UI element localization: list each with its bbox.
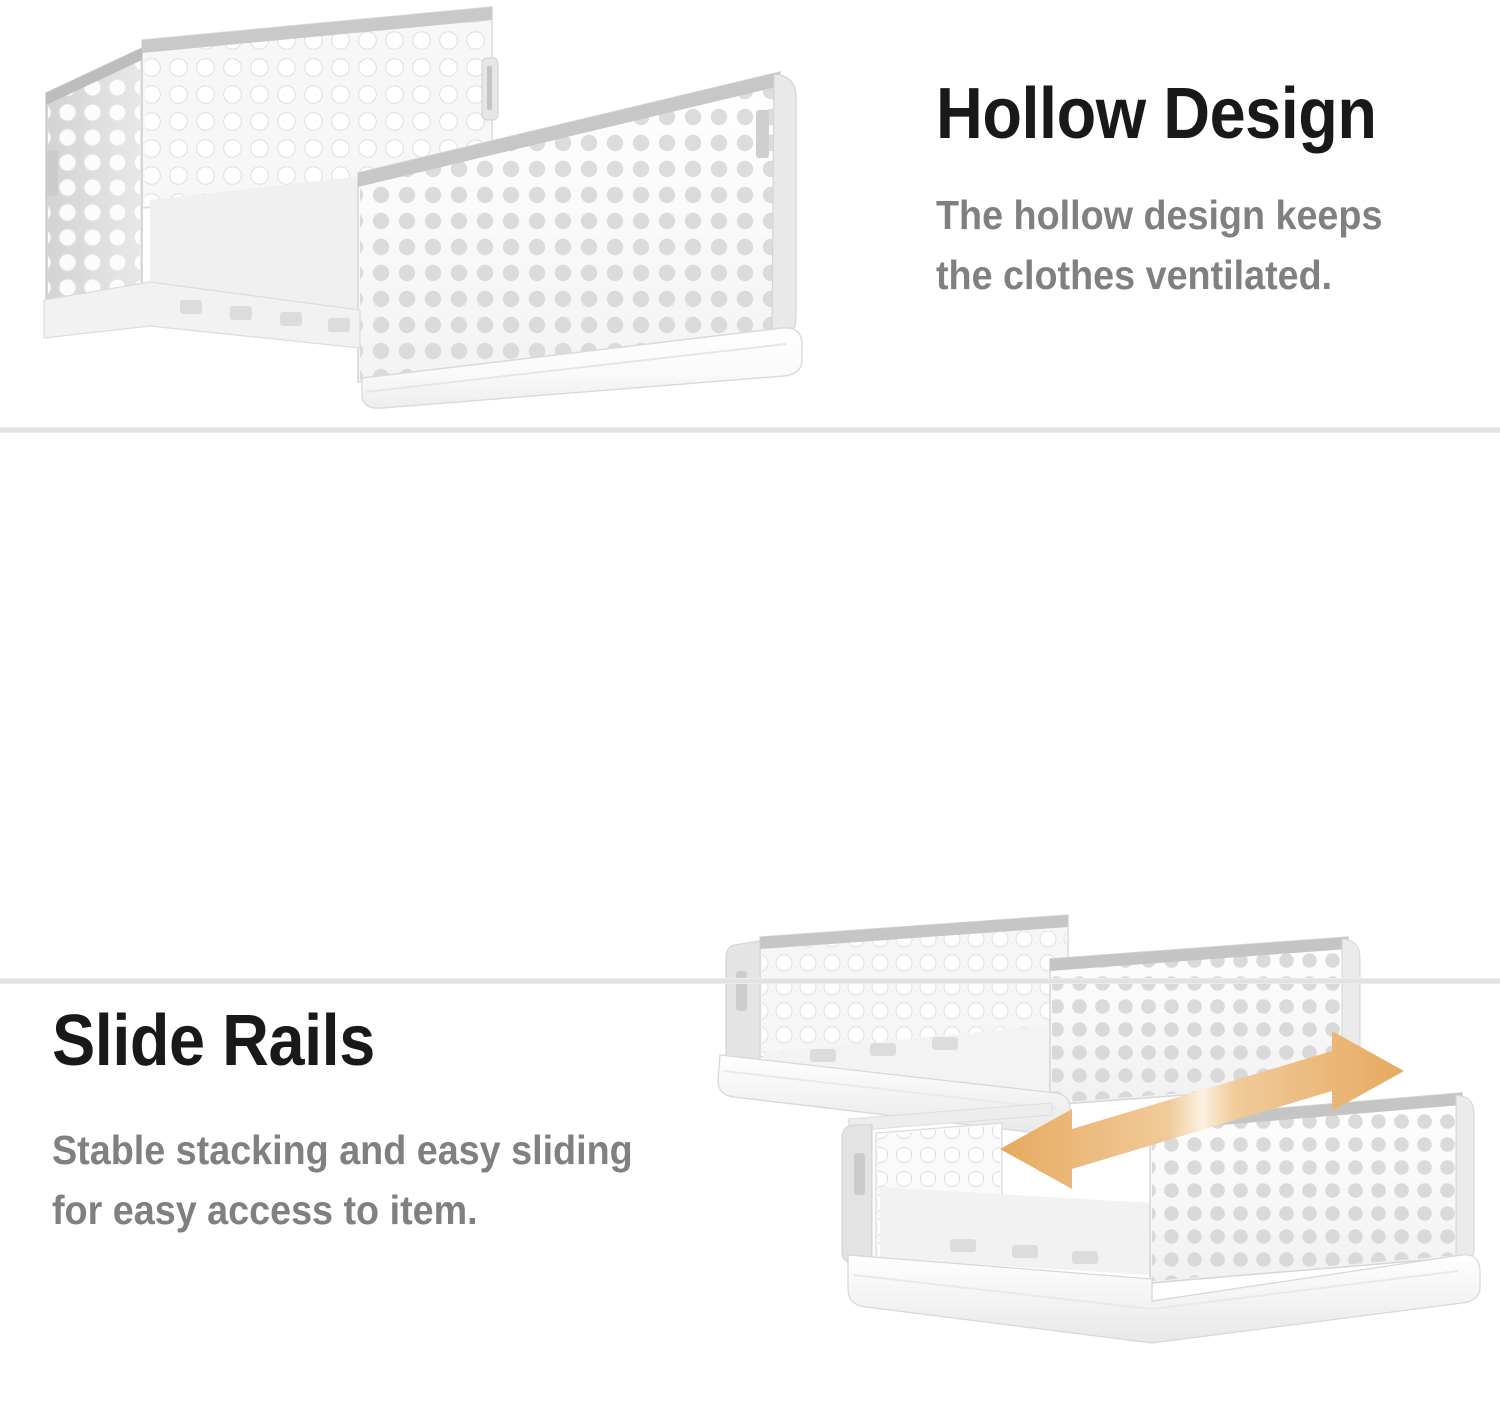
body-line: The hollow design keeps — [936, 186, 1386, 246]
body-hollow-design: The hollow design keeps the clothes vent… — [936, 186, 1386, 306]
section-hollow-design: Hollow Design The hollow design keeps th… — [0, 0, 1500, 427]
product-feature-infographic: Hollow Design The hollow design keeps th… — [0, 0, 1500, 1410]
section-slide-rails: Slide Rails Stable stacking and easy sli… — [0, 433, 1500, 978]
body-line: the clothes ventilated. — [936, 246, 1386, 306]
basket-hinge-tab — [482, 58, 498, 120]
section-reinforced-snap: Reinforced Snap Reinforced buckles to in… — [0, 984, 1500, 1410]
product-image-hollow-design — [30, 0, 820, 420]
text-block-hollow-design: Hollow Design The hollow design keeps th… — [936, 78, 1426, 306]
headline-hollow-design: Hollow Design — [936, 78, 1377, 150]
